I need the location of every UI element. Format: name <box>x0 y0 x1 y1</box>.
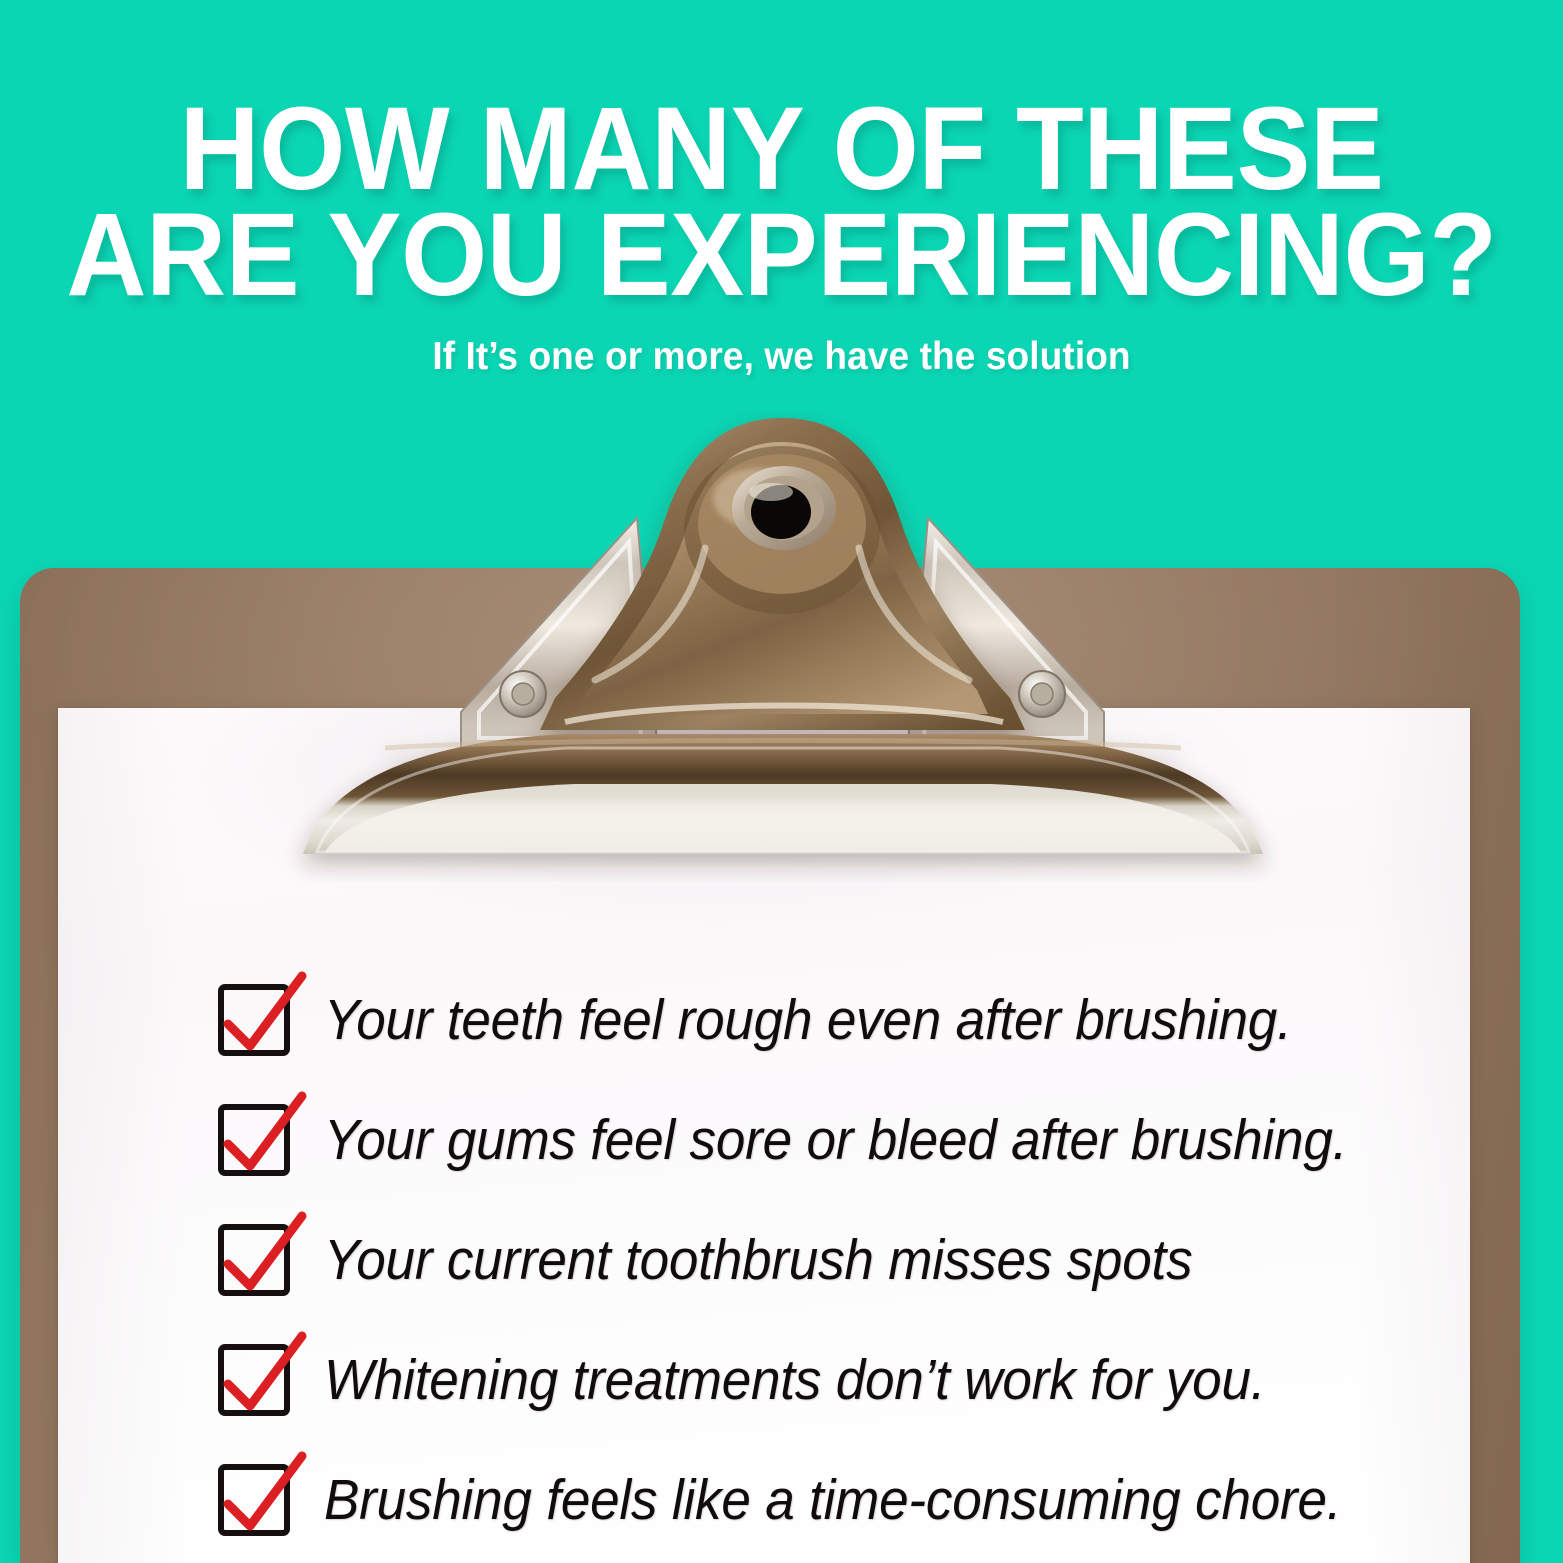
checklist-label: Brushing feels like a time-consuming cho… <box>324 1469 1341 1531</box>
checklist-label: Your current toothbrush misses spots <box>324 1229 1192 1291</box>
checklist-label: Your teeth feel rough even after brushin… <box>324 989 1292 1051</box>
checklist-label: Your gums feel sore or bleed after brush… <box>324 1109 1347 1171</box>
checkmark-icon <box>214 966 310 1062</box>
checkbox-1[interactable] <box>218 984 290 1056</box>
page-subtitle: If It’s one or more, we have the solutio… <box>39 332 1524 382</box>
symptom-checklist: Your teeth feel rough even after brushin… <box>218 960 1518 1560</box>
page-title: HOW MANY OF THESE ARE YOU EXPERIENCING? <box>47 96 1516 308</box>
poster-canvas: HOW MANY OF THESE ARE YOU EXPERIENCING? … <box>0 0 1563 1563</box>
checklist-row[interactable]: Brushing feels like a time-consuming cho… <box>218 1440 1518 1560</box>
checkmark-icon <box>214 1206 310 1302</box>
checklist-row[interactable]: Your teeth feel rough even after brushin… <box>218 960 1518 1080</box>
checklist-label: Whitening treatments don’t work for you. <box>324 1349 1265 1411</box>
checkmark-icon <box>214 1326 310 1422</box>
clip-center-hole <box>732 466 836 550</box>
checklist-row[interactable]: Whitening treatments don’t work for you. <box>218 1320 1518 1440</box>
checklist-row[interactable]: Your current toothbrush misses spots <box>218 1200 1518 1320</box>
checkbox-5[interactable] <box>218 1464 290 1536</box>
checkbox-4[interactable] <box>218 1344 290 1416</box>
checkbox-3[interactable] <box>218 1224 290 1296</box>
checklist-row[interactable]: Your gums feel sore or bleed after brush… <box>218 1080 1518 1200</box>
checkmark-icon <box>214 1086 310 1182</box>
checkmark-icon <box>214 1446 310 1542</box>
checkbox-2[interactable] <box>218 1104 290 1176</box>
